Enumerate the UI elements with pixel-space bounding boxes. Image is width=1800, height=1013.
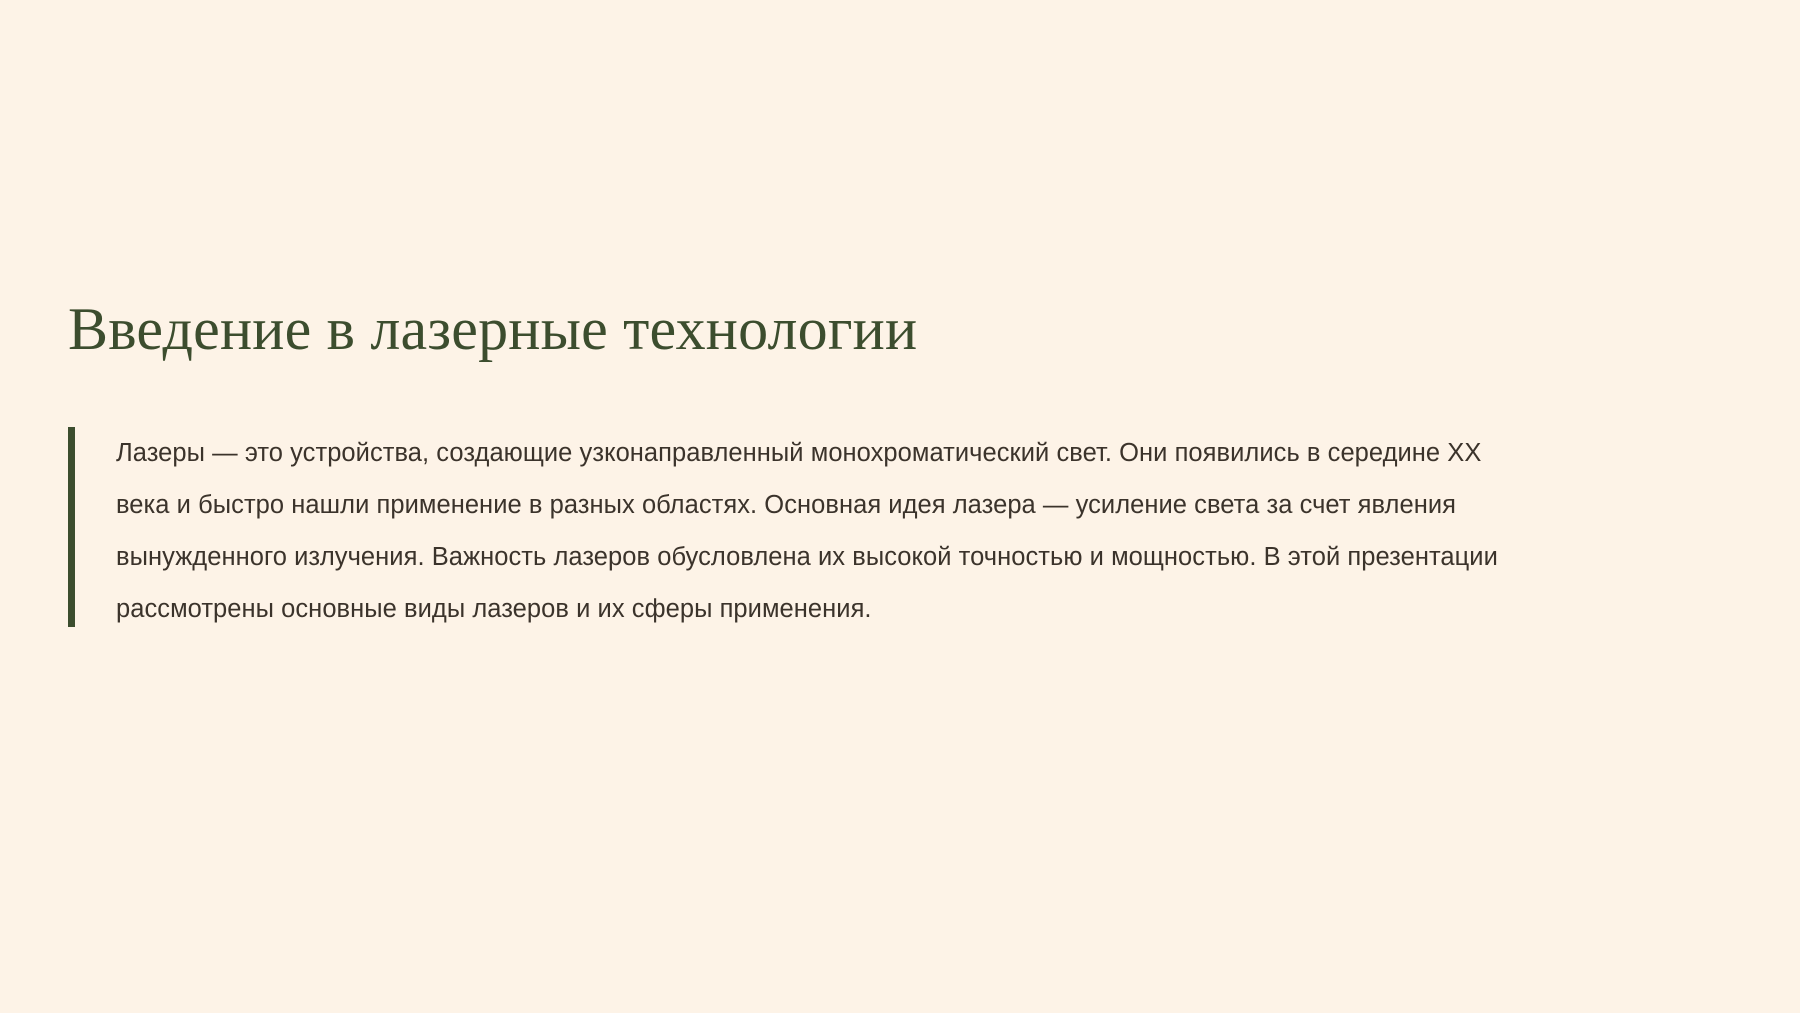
presentation-slide: Введение в лазерные технологии Лазеры — …: [0, 0, 1800, 1013]
body-block: Лазеры — это устройства, создающие узкон…: [68, 427, 1732, 635]
accent-bar: [68, 427, 75, 627]
body-paragraph: Лазеры — это устройства, создающие узкон…: [116, 427, 1506, 635]
slide-content: Введение в лазерные технологии Лазеры — …: [68, 296, 1732, 635]
page-title: Введение в лазерные технологии: [68, 296, 1732, 363]
